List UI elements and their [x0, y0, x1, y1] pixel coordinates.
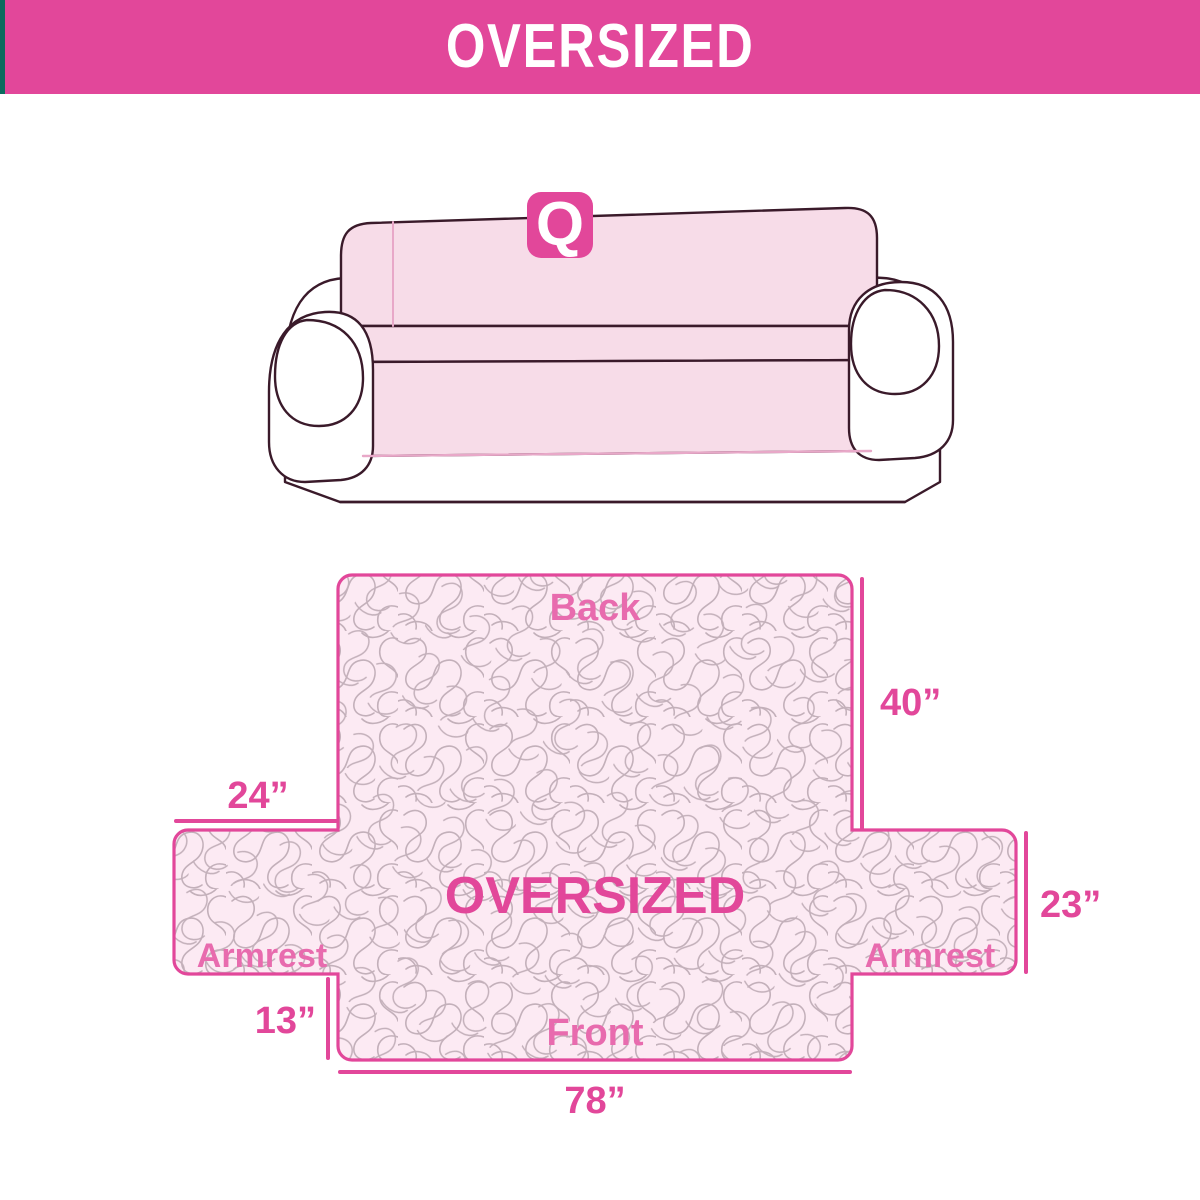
dimension-value-78: 78” [564, 1080, 625, 1122]
dimension-value-23: 23” [1040, 884, 1101, 926]
dimension-13: 13” [255, 979, 328, 1058]
banner-title: OVERSIZED [446, 16, 755, 78]
sofa-illustration: Q [245, 130, 975, 510]
dimension-value-40: 40” [880, 682, 941, 724]
dimension-value-24: 24” [227, 775, 288, 817]
dimension-40: 40” [862, 579, 941, 828]
dimension-value-13: 13” [255, 1000, 316, 1042]
panel-label-front: Front [546, 1012, 643, 1054]
brand-logo-letter: Q [536, 190, 584, 259]
panel-label-left-armrest: Armrest [197, 937, 327, 975]
header-banner: OVERSIZED [0, 0, 1200, 94]
dimension-24: 24” [176, 775, 336, 821]
flat-layout-diagram: Back Armrest Armrest Front OVERSIZED 24”… [140, 545, 1090, 1145]
brand-logo-badge: Q [527, 190, 593, 259]
dimension-78: 78” [340, 1072, 850, 1122]
panel-label-right-armrest: Armrest [865, 937, 995, 975]
dimension-23: 23” [1026, 833, 1101, 972]
panel-label-back: Back [550, 587, 642, 629]
banner-left-edge-accent [0, 0, 5, 94]
flat-layout-center-title: OVERSIZED [445, 867, 746, 925]
